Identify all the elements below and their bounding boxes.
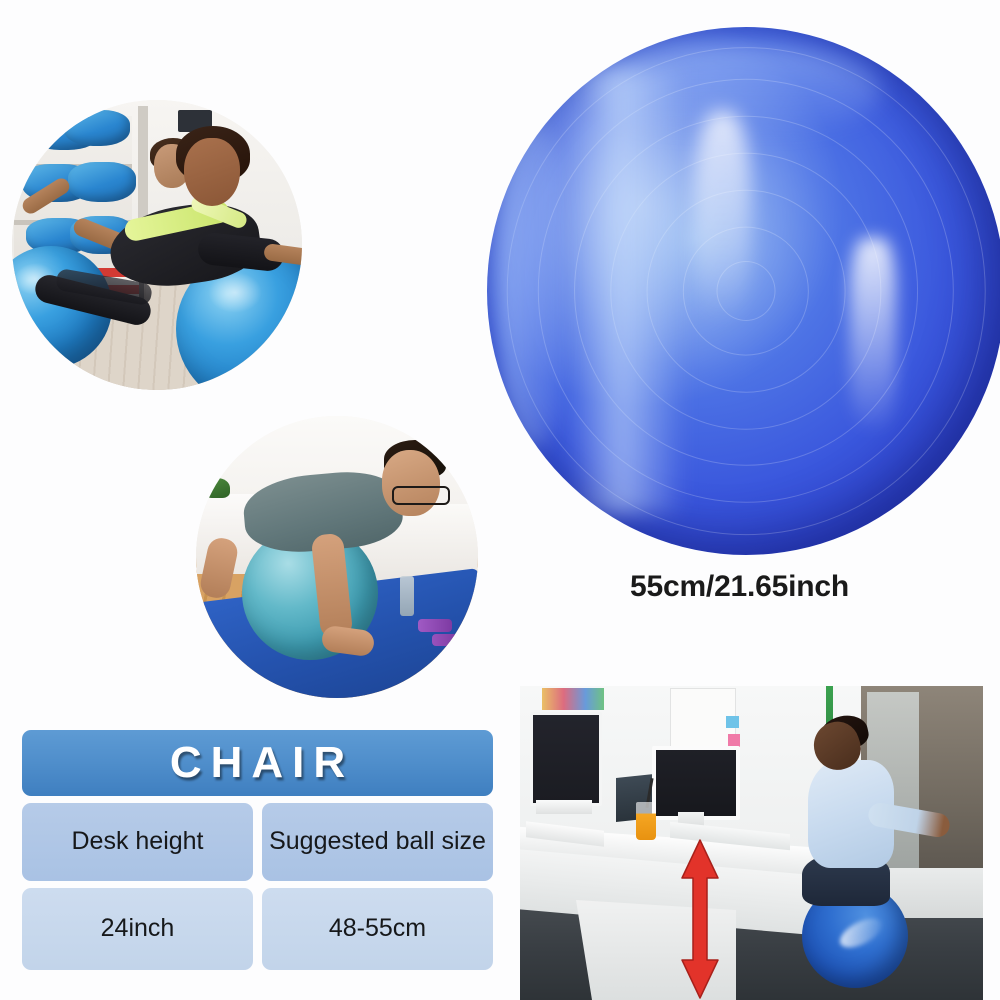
monitor-left-stand — [536, 800, 592, 814]
sticky-note — [726, 716, 739, 728]
stored-ball — [68, 162, 136, 202]
column-header-desk-height: Desk height — [22, 803, 253, 881]
ball-rim-light — [497, 122, 570, 449]
chair-table-title: CHAIR — [161, 738, 354, 788]
water-bottle — [400, 576, 414, 616]
cell-desk-height-value: 24inch — [22, 888, 253, 970]
ball-highlight — [694, 111, 751, 322]
ball-highlight — [570, 69, 684, 513]
stored-ball — [64, 110, 130, 146]
plant — [204, 478, 230, 498]
juice-glass — [636, 802, 656, 840]
column-header-ball-size: Suggested ball size — [262, 803, 493, 881]
dumbbell — [418, 619, 452, 632]
chair-table-header: CHAIR — [22, 730, 493, 796]
desk-height-arrow-icon — [678, 838, 722, 1000]
cell-ball-size-value: 48-55cm — [262, 888, 493, 970]
glasses-icon — [392, 486, 450, 505]
man-head — [382, 450, 440, 516]
monitor-center — [652, 746, 740, 820]
gym-photo — [12, 100, 302, 390]
dumbbell — [432, 634, 462, 646]
product-exercise-ball — [487, 27, 1000, 555]
wall-color-chart — [542, 688, 604, 710]
office-photo — [520, 686, 983, 1000]
product-infographic: 55cm/21.65inch CHAIR Desk height Suggest… — [0, 0, 1000, 1000]
woman-head — [184, 138, 240, 206]
monitor-left — [530, 712, 602, 806]
ball-highlight — [850, 238, 897, 428]
table-header-row: Desk height Suggested ball size — [22, 803, 493, 881]
chair-sizing-table: CHAIR Desk height Suggested ball size 24… — [22, 730, 493, 970]
table-data-row: 24inch 48-55cm — [22, 888, 493, 970]
ball-size-caption: 55cm/21.65inch — [630, 570, 849, 604]
plank-photo — [196, 416, 478, 698]
